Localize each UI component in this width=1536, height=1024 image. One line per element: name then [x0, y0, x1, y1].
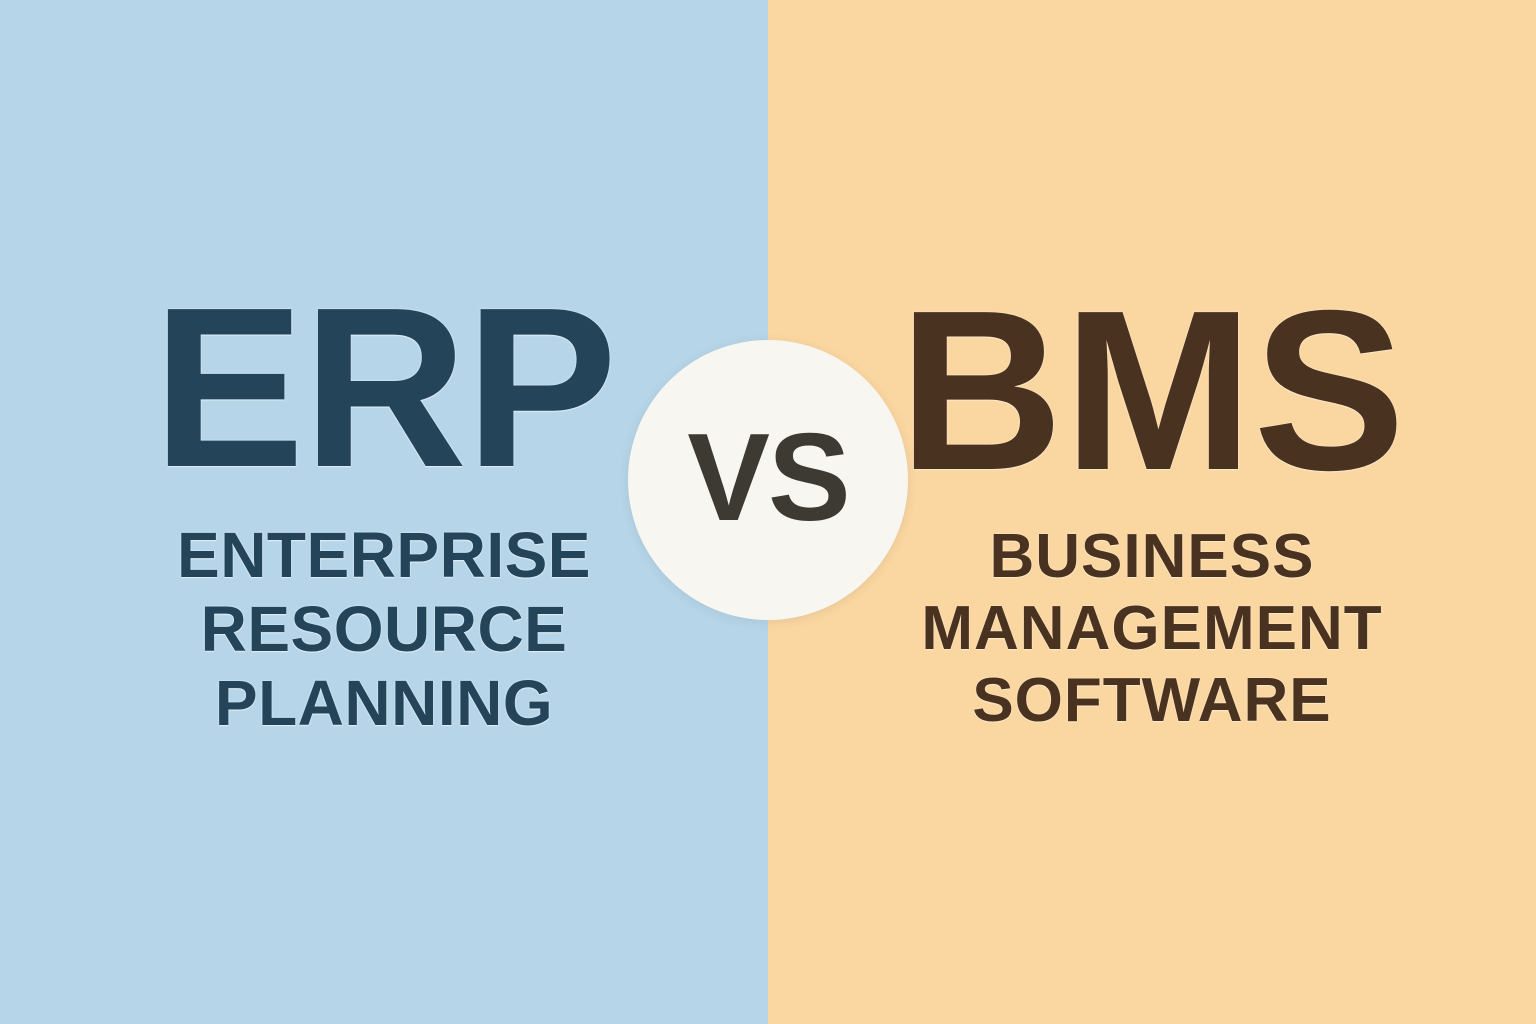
- left-acronym: ERP: [153, 300, 616, 478]
- left-panel-content: ERP ENTERPRISE RESOURCE PLANNING: [153, 300, 616, 741]
- left-expansion-line-3: PLANNING: [177, 666, 591, 740]
- versus-label: VS: [687, 416, 848, 540]
- right-expansion-line-3: SOFTWARE: [921, 665, 1382, 737]
- versus-badge: VS: [628, 340, 908, 620]
- right-expansion-line-1: BUSINESS: [921, 521, 1382, 593]
- comparison-graphic: ERP ENTERPRISE RESOURCE PLANNING BMS BUS…: [0, 0, 1536, 1024]
- right-acronym: BMS: [899, 303, 1406, 481]
- left-expansion-line-2: RESOURCE: [177, 592, 591, 666]
- left-expansion: ENTERPRISE RESOURCE PLANNING: [177, 518, 591, 741]
- right-expansion: BUSINESS MANAGEMENT SOFTWARE: [921, 521, 1382, 737]
- right-panel-content: BMS BUSINESS MANAGEMENT SOFTWARE: [899, 303, 1406, 737]
- left-expansion-line-1: ENTERPRISE: [177, 518, 591, 592]
- right-expansion-line-2: MANAGEMENT: [921, 593, 1382, 665]
